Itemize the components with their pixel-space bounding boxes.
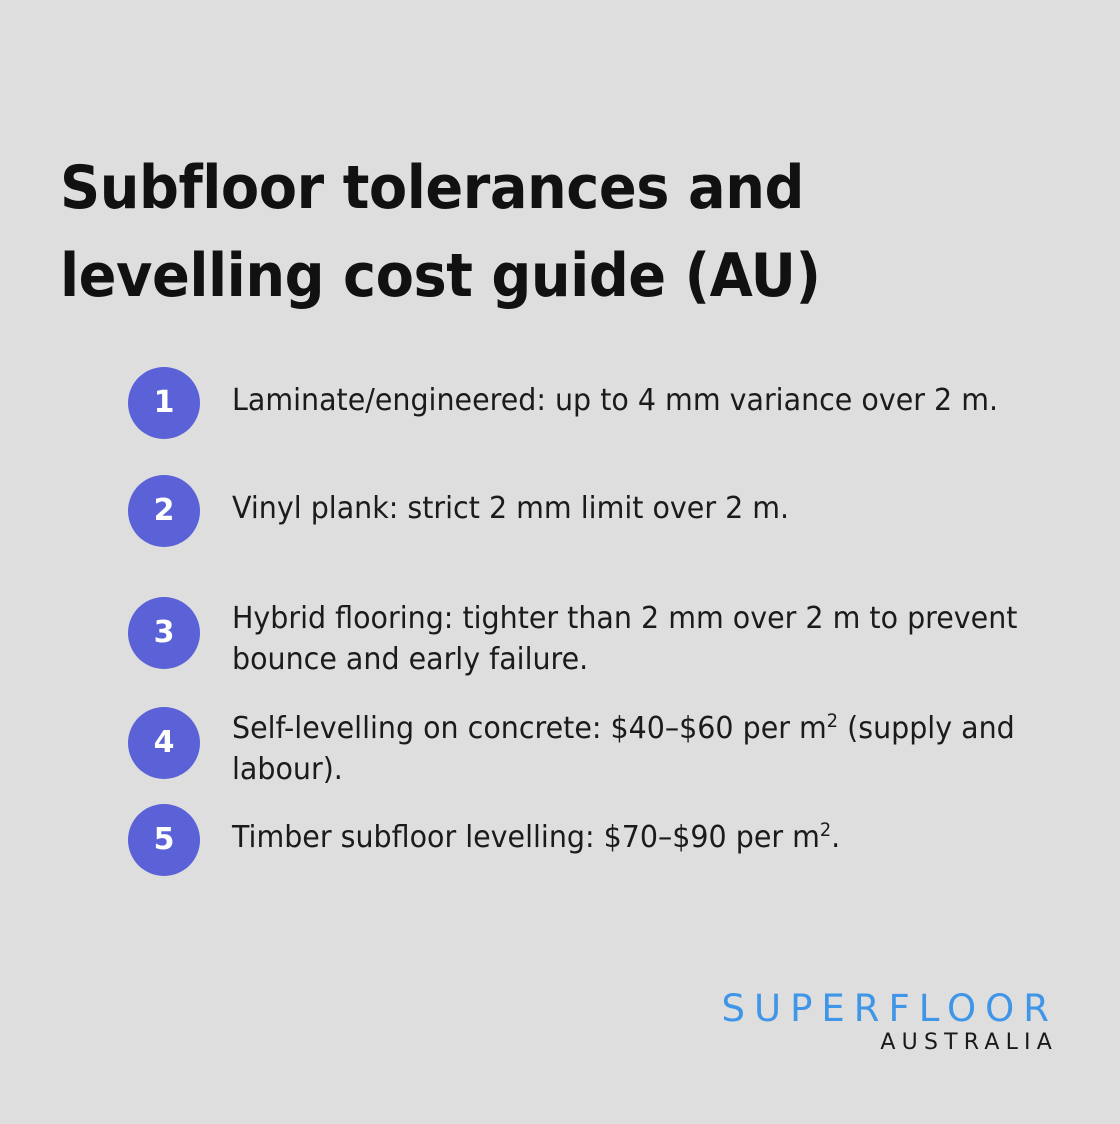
numbered-list: 1 Laminate/engineered: up to 4 mm varian… [128,367,1068,876]
list-number-badge: 2 [128,475,200,547]
square-unit-superscript: 2 [827,711,838,732]
list-number-badge: 5 [128,804,200,876]
list-item: 1 Laminate/engineered: up to 4 mm varian… [128,367,1068,439]
page-title: Subfloor tolerances and levelling cost g… [60,144,897,320]
square-unit-superscript: 2 [820,820,831,841]
list-item-text: Laminate/engineered: up to 4 mm variance… [232,367,1026,421]
list-item: 3 Hybrid flooring: tighter than 2 mm ove… [128,585,1068,680]
brand-logo-secondary: AUSTRALIA [722,1030,1059,1056]
list-number-badge: 3 [128,597,200,669]
list-number-badge: 1 [128,367,200,439]
list-item-text: Hybrid flooring: tighter than 2 mm over … [232,585,1026,680]
list-item-text-before: Self-levelling on concrete: $40–$60 per … [232,711,827,746]
infographic-canvas: Subfloor tolerances and levelling cost g… [0,0,1120,1124]
list-item-text: Vinyl plank: strict 2 mm limit over 2 m. [232,475,1026,529]
list-number-badge: 4 [128,707,200,779]
list-item-text-before: Timber subfloor levelling: $70–$90 per m [232,820,820,855]
list-item: 4 Self-levelling on concrete: $40–$60 pe… [128,695,1068,790]
brand-logo: SUPERFLOOR AUSTRALIA [722,990,1059,1056]
list-item-text: Timber subfloor levelling: $70–$90 per m… [232,804,1026,858]
brand-logo-primary: SUPERFLOOR [722,990,1059,1029]
list-item: 5 Timber subfloor levelling: $70–$90 per… [128,804,1068,876]
list-item: 2 Vinyl plank: strict 2 mm limit over 2 … [128,475,1068,547]
list-item-text-after: . [831,820,840,855]
list-item-text: Self-levelling on concrete: $40–$60 per … [232,695,1026,790]
